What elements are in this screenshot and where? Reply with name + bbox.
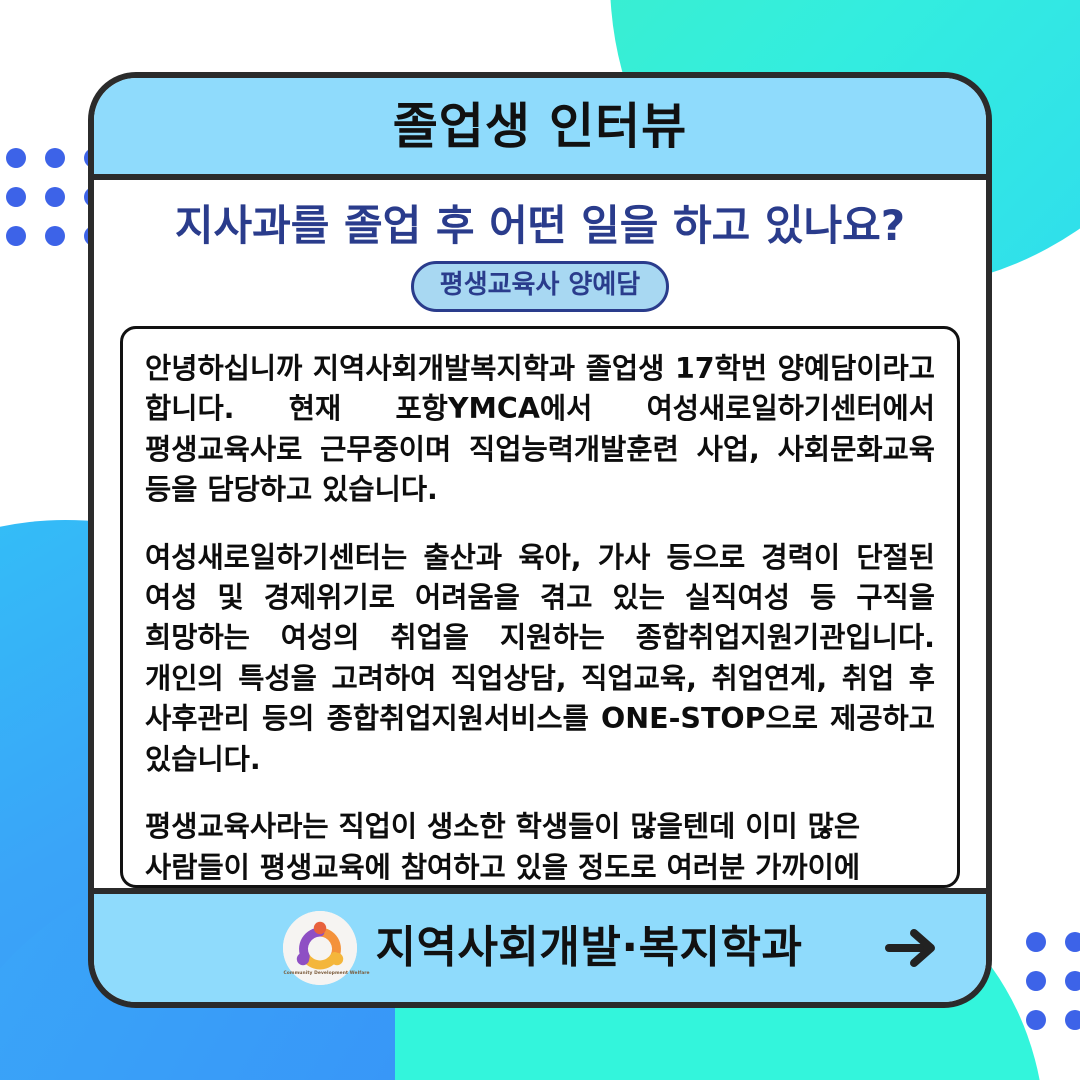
dot-shape [1026,971,1046,991]
dot-shape [45,148,65,168]
dot-shape [6,187,26,207]
interview-question: 지사과를 졸업 후 어떤 일을 하고 있나요? [175,202,905,249]
answer-text-box: 안녕하십니까 지역사회개발복지학과 졸업생 17학번 양예담이라고 합니다. 현… [120,326,960,888]
poster-canvas: 졸업생 인터뷰 지사과를 졸업 후 어떤 일을 하고 있나요? 평생교육사 양예… [0,0,1080,1080]
dot-shape [1026,1010,1046,1030]
answer-paragraph-3: 평생교육사라는 직업이 생소한 학생들이 많을텐데 이미 많은 사람들이 평생교… [145,807,935,888]
department-name: 지역사회개발·복지학과 [375,926,802,970]
dot-shape [6,148,26,168]
answer-paragraph-1: 안녕하십니까 지역사회개발복지학과 졸업생 17학번 양예담이라고 합니다. 현… [145,349,935,511]
answer-paragraph-2: 여성새로일하기센터는 출산과 육아, 가사 등으로 경력이 단절된 여성 및 경… [145,538,935,781]
dot-shape [45,226,65,246]
footer-brand: Community Development Welfare 지역사회개발·복지학… [243,911,802,985]
page-title: 졸업생 인터뷰 [393,102,688,151]
dot-shape [1065,932,1080,952]
dot-shape [45,187,65,207]
arrow-right-icon[interactable] [884,925,942,971]
dot-shape [1065,971,1080,991]
dot-shape [1065,1010,1080,1030]
three-people-circle-logo-icon: Community Development Welfare [283,911,357,985]
dot-grid-right [1026,932,1080,1030]
status-badge: 평생교육사 양예담 [411,261,669,312]
card-header: 졸업생 인터뷰 [94,78,986,180]
card-footer: Community Development Welfare 지역사회개발·복지학… [94,888,986,1002]
dot-shape [6,226,26,246]
logo-caption: Community Development Welfare [283,971,357,976]
dot-shape [1026,932,1046,952]
interview-card: 졸업생 인터뷰 지사과를 졸업 후 어떤 일을 하고 있나요? 평생교육사 양예… [88,72,992,1008]
card-body: 지사과를 졸업 후 어떤 일을 하고 있나요? 평생교육사 양예담 안녕하십니까… [94,180,986,888]
